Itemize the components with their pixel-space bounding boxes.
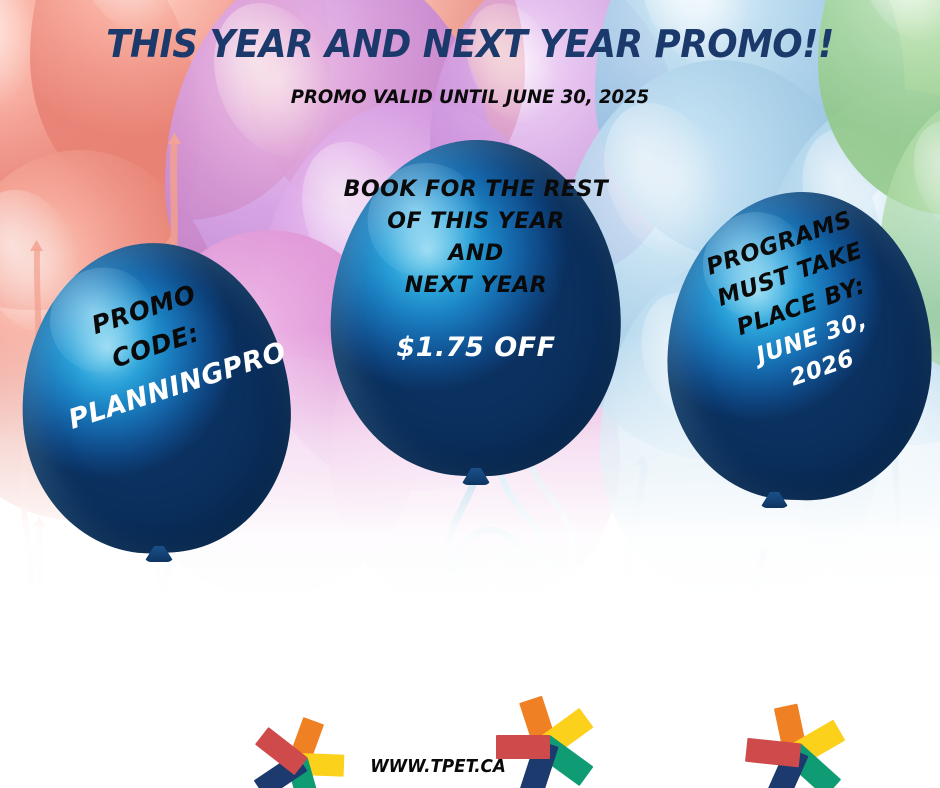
offer-discount-amount: $1.75 OFF (336, 331, 616, 366)
website-url: WWW.TPET.CA (326, 756, 549, 777)
promo-poster: PROMO CODE: PLANNINGPRO BOOK FOR THE RES… (0, 0, 940, 788)
page-title: THIS YEAR AND NEXT YEAR PROMO!! (28, 22, 912, 66)
offer-line4: NEXT YEAR (336, 272, 616, 300)
promo-validity-subtitle: PROMO VALID UNTIL JUNE 30, 2025 (24, 86, 917, 108)
balloon-center-text: BOOK FOR THE REST OF THIS YEAR AND NEXT … (336, 176, 616, 365)
offer-line3: AND (336, 240, 616, 268)
offer-line2: OF THIS YEAR (336, 208, 616, 236)
tpet-pinwheel-logo-right (736, 700, 856, 788)
offer-line1: BOOK FOR THE REST (336, 176, 616, 204)
